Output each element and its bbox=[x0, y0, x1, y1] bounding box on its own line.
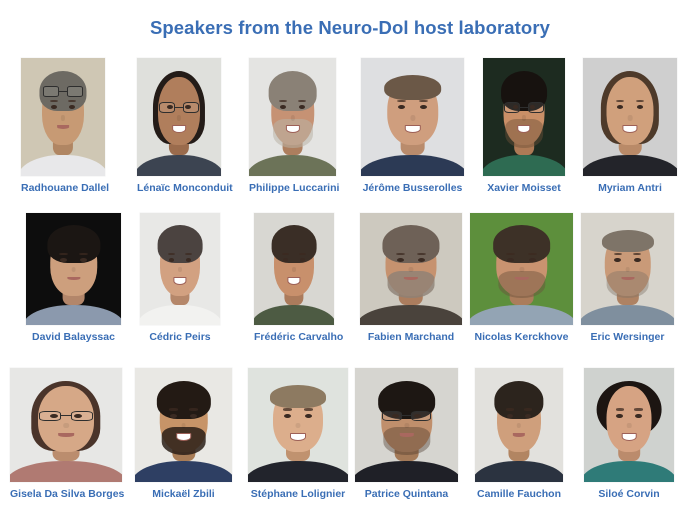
photo-eye-right bbox=[80, 258, 87, 262]
photo-brow-right bbox=[524, 408, 532, 411]
photo-brow-left bbox=[506, 408, 514, 411]
speaker-card[interactable]: Radhouane Dallel bbox=[21, 58, 105, 194]
photo-eye-right bbox=[74, 414, 82, 418]
speaker-name: Radhouane Dallel bbox=[21, 182, 105, 194]
photo-mouth bbox=[287, 277, 300, 285]
photo-beard bbox=[388, 271, 435, 298]
photo-mouth bbox=[513, 433, 525, 437]
speaker-card[interactable]: Frédéric Carvalho bbox=[254, 213, 334, 343]
speaker-photo[interactable] bbox=[248, 368, 348, 482]
photo-beard bbox=[505, 119, 543, 147]
photo-mouth bbox=[622, 433, 637, 441]
speaker-name: Camille Fauchon bbox=[475, 488, 563, 500]
photo-eye-left bbox=[60, 258, 67, 262]
photo-hair bbox=[382, 225, 439, 263]
photo-nose bbox=[522, 115, 526, 121]
speaker-name: Gisela Da Silva Borges bbox=[10, 488, 122, 500]
speaker-card[interactable]: Lénaïc Monconduit bbox=[137, 58, 221, 194]
photo-nose bbox=[61, 115, 65, 121]
photo-nose bbox=[625, 267, 630, 273]
photo-eye-right bbox=[190, 414, 197, 418]
speakers-slide: Speakers from the Neuro-Dol host laborat… bbox=[0, 0, 700, 527]
photo-mouth bbox=[404, 277, 418, 281]
speaker-card[interactable]: Nicolas Kerckhove bbox=[470, 213, 573, 343]
speaker-photo[interactable] bbox=[581, 213, 674, 325]
photo-hair bbox=[156, 381, 210, 420]
speaker-photo[interactable] bbox=[254, 213, 334, 325]
photo-brow-right bbox=[189, 408, 198, 411]
photo-nose bbox=[292, 267, 296, 273]
photo-mouth bbox=[514, 277, 528, 281]
photo-hair bbox=[601, 230, 653, 252]
speaker-name: Mickaël Zbili bbox=[135, 488, 232, 500]
photo-eye-left bbox=[170, 414, 177, 418]
photo-mouth bbox=[58, 433, 74, 437]
photo-nose bbox=[178, 267, 182, 273]
photo-nose bbox=[404, 423, 409, 429]
speaker-card[interactable]: David Balayssac bbox=[26, 213, 121, 343]
photo-hair bbox=[270, 385, 326, 408]
speaker-photo[interactable] bbox=[475, 368, 563, 482]
speaker-name: David Balayssac bbox=[26, 331, 121, 343]
photo-nose bbox=[63, 423, 69, 429]
photo-nose bbox=[408, 267, 413, 273]
photo-nose bbox=[71, 267, 76, 273]
photo-mouth bbox=[67, 277, 80, 281]
photo-mouth bbox=[173, 277, 186, 285]
page-title: Speakers from the Neuro-Dol host laborat… bbox=[0, 17, 700, 39]
speaker-photo[interactable] bbox=[355, 368, 458, 482]
photo-nose bbox=[517, 423, 521, 429]
speaker-card[interactable]: Patrice Quintana bbox=[355, 368, 458, 500]
photo-mouth bbox=[399, 433, 413, 437]
photo-mouth bbox=[172, 125, 186, 133]
speaker-photo[interactable] bbox=[483, 58, 565, 176]
speaker-name: Myriam Antri bbox=[583, 182, 677, 194]
speaker-name: Jérôme Busserolles bbox=[361, 182, 464, 194]
speaker-name: Eric Wersinger bbox=[581, 331, 674, 343]
speaker-card[interactable]: Stéphane Lolignier bbox=[248, 368, 348, 500]
photo-hair bbox=[47, 225, 100, 263]
photo-nose bbox=[519, 267, 524, 273]
speaker-card[interactable]: Siloé Corvin bbox=[584, 368, 674, 500]
speakers-grid: Radhouane Dallel Lénaïc M bbox=[0, 58, 700, 523]
speaker-photo[interactable] bbox=[10, 368, 122, 482]
photo-brow-right bbox=[79, 253, 88, 255]
speaker-card[interactable]: Philippe Luccarini bbox=[249, 58, 336, 194]
speaker-name: Patrice Quintana bbox=[355, 488, 458, 500]
speaker-card[interactable]: Xavier Moisset bbox=[483, 58, 565, 194]
photo-beard bbox=[272, 119, 312, 147]
glasses-icon bbox=[504, 102, 543, 113]
speaker-name: Xavier Moisset bbox=[483, 182, 565, 194]
speaker-card[interactable]: Camille Fauchon bbox=[475, 368, 563, 500]
photo-brow-left bbox=[283, 408, 292, 411]
photo-brow-left bbox=[169, 408, 178, 411]
speaker-card[interactable]: Jérôme Busserolles bbox=[361, 58, 464, 194]
glasses-icon bbox=[382, 411, 431, 421]
photo-eye-left bbox=[507, 414, 513, 418]
photo-nose bbox=[181, 423, 186, 429]
speakers-row-1: Radhouane Dallel Lénaïc M bbox=[0, 58, 700, 213]
speaker-name: Cédric Peirs bbox=[140, 331, 220, 343]
speaker-card[interactable]: Mickaël Zbili bbox=[135, 368, 232, 500]
photo-eye-left bbox=[397, 258, 404, 262]
speaker-name: Philippe Luccarini bbox=[249, 182, 336, 194]
photo-mouth bbox=[57, 125, 69, 129]
speaker-photo[interactable] bbox=[584, 368, 674, 482]
photo-head bbox=[607, 77, 654, 145]
photo-eye-right bbox=[300, 258, 306, 262]
speaker-photo[interactable] bbox=[361, 58, 464, 176]
photo-head bbox=[607, 386, 652, 452]
photo-hair bbox=[384, 75, 442, 101]
photo-hair bbox=[493, 225, 551, 263]
photo-eye-right bbox=[186, 258, 192, 262]
speaker-photo[interactable] bbox=[135, 368, 232, 482]
photo-brow-left bbox=[59, 253, 68, 255]
speaker-card[interactable]: Eric Wersinger bbox=[581, 213, 674, 343]
photo-mouth bbox=[621, 277, 634, 281]
photo-nose bbox=[296, 423, 301, 429]
photo-eye-right bbox=[418, 258, 425, 262]
photo-hair bbox=[494, 381, 543, 420]
speaker-photo[interactable] bbox=[21, 58, 105, 176]
photo-mouth bbox=[176, 433, 192, 441]
speaker-photo[interactable] bbox=[249, 58, 336, 176]
speaker-photo[interactable] bbox=[470, 213, 573, 325]
photo-beard bbox=[161, 427, 206, 454]
photo-brow-right bbox=[634, 408, 642, 411]
photo-eye-left bbox=[507, 258, 514, 262]
photo-eye-right bbox=[414, 414, 421, 418]
speaker-card[interactable]: Fabien Marchand bbox=[360, 213, 462, 343]
photo-eye-left bbox=[284, 414, 291, 418]
photo-hair bbox=[268, 71, 317, 111]
speakers-row-2: David Balayssac Cédric Peirs bbox=[0, 213, 700, 368]
photo-eye-right bbox=[305, 414, 312, 418]
photo-eye-left bbox=[614, 258, 621, 262]
speaker-card[interactable]: Gisela Da Silva Borges bbox=[10, 368, 122, 500]
speaker-photo[interactable] bbox=[140, 213, 220, 325]
speaker-card[interactable]: Myriam Antri bbox=[583, 58, 677, 194]
speaker-name: Stéphane Lolignier bbox=[248, 488, 348, 500]
speaker-photo[interactable] bbox=[360, 213, 462, 325]
photo-eye-left bbox=[283, 258, 289, 262]
photo-brow-left bbox=[616, 408, 624, 411]
speaker-name: Nicolas Kerckhove bbox=[470, 331, 573, 343]
speaker-name: Frédéric Carvalho bbox=[254, 331, 334, 343]
photo-eye-right bbox=[529, 258, 536, 262]
photo-brow-right bbox=[304, 408, 313, 411]
speakers-row-3: Gisela Da Silva Borges Mick bbox=[0, 368, 700, 523]
photo-beard bbox=[606, 271, 649, 298]
speaker-name: Fabien Marchand bbox=[360, 331, 462, 343]
glasses-icon bbox=[159, 102, 199, 113]
photo-eye-left bbox=[169, 258, 175, 262]
speaker-photo[interactable] bbox=[137, 58, 221, 176]
speaker-name: Lénaïc Monconduit bbox=[137, 182, 221, 194]
glasses-icon bbox=[43, 86, 83, 97]
photo-eye-left bbox=[50, 414, 58, 418]
glasses-icon bbox=[39, 411, 93, 421]
photo-nose bbox=[410, 115, 415, 121]
speaker-photo[interactable] bbox=[583, 58, 677, 176]
photo-eye-left bbox=[616, 414, 622, 418]
photo-beard bbox=[498, 271, 545, 298]
photo-nose bbox=[177, 115, 181, 121]
photo-eye-right bbox=[634, 258, 641, 262]
photo-eye-right bbox=[635, 414, 641, 418]
photo-hair bbox=[272, 225, 317, 263]
photo-nose bbox=[627, 423, 632, 429]
photo-hair bbox=[158, 225, 203, 263]
speaker-photo[interactable] bbox=[26, 213, 121, 325]
photo-eye-left bbox=[392, 414, 399, 418]
photo-nose bbox=[628, 115, 633, 121]
photo-mouth bbox=[290, 433, 306, 441]
speaker-name: Siloé Corvin bbox=[584, 488, 674, 500]
speaker-card[interactable]: Cédric Peirs bbox=[140, 213, 220, 343]
photo-eye-right bbox=[525, 414, 531, 418]
